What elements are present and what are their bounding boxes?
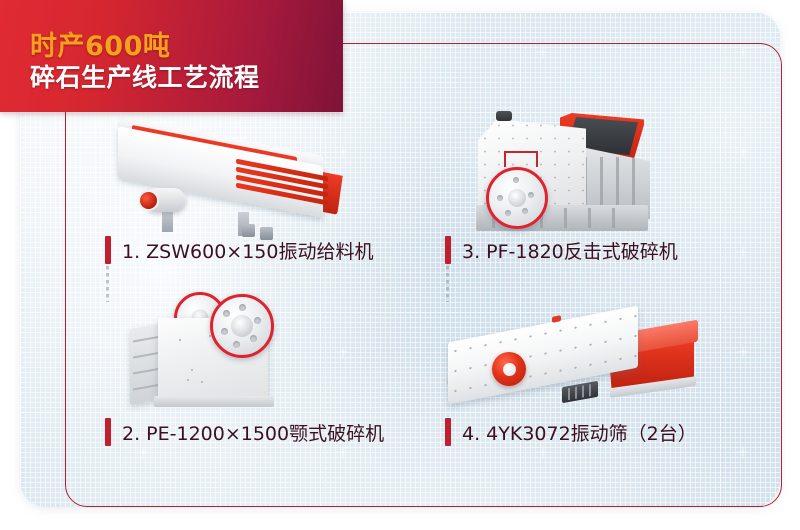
header-banner: 时产600吨 碎石生产线工艺流程: [0, 0, 343, 112]
flywheel-hole: [522, 208, 528, 214]
label-text: 1. ZSW600×150振动给料机: [122, 237, 373, 264]
label-item-3: 3. PF-1820反击式破碎机: [445, 236, 678, 264]
machine-vibrating-feeder: [110, 128, 360, 233]
label-text: 4. 4YK3072振动筛（2台）: [462, 419, 697, 446]
feeder-motor-cap: [138, 190, 159, 211]
poster-root: 时产600吨 碎石生产线工艺流程 1. ZSW600×150振动给料机: [0, 0, 800, 530]
label-accent-bar: [445, 418, 451, 446]
flywheel-hole: [505, 210, 511, 216]
flywheel-hole: [250, 335, 257, 342]
flywheel-hole: [528, 192, 534, 198]
banner-title-line2: 碎石生产线工艺流程: [30, 58, 260, 94]
jaw-base-frame: [154, 396, 274, 407]
label-item-2: 2. PE-1200×1500颚式破碎机: [105, 418, 384, 446]
label-text: 2. PE-1200×1500颚式破碎机: [122, 419, 384, 446]
flywheel-hole: [497, 195, 503, 201]
label-item-1: 1. ZSW600×150振动给料机: [105, 236, 373, 264]
label-accent-bar: [445, 236, 451, 264]
impact-flywheel: [486, 167, 548, 229]
flywheel-hub: [231, 315, 253, 337]
screen-motor: [562, 381, 598, 403]
label-text: 3. PF-1820反击式破碎机: [462, 237, 678, 264]
label-item-4: 4. 4YK3072振动筛（2台）: [445, 418, 697, 446]
jaw-flywheel-front: [210, 294, 274, 358]
flywheel-hub: [508, 189, 526, 207]
flywheel-hole: [233, 341, 240, 348]
label-dotted-line-1: [106, 266, 109, 302]
label-accent-bar: [105, 418, 111, 446]
impact-top-fitting: [496, 111, 512, 121]
flywheel-hole: [254, 317, 261, 324]
machine-jaw-crusher: [128, 286, 328, 411]
screen-exciter-drum: [492, 352, 526, 386]
flywheel-hole: [223, 310, 230, 317]
machine-impact-crusher: [460, 105, 675, 235]
machine-vibrating-screen: [440, 300, 700, 415]
flywheel-hole: [221, 328, 228, 335]
flywheel-hole: [513, 177, 519, 183]
impact-guard-bracket: [504, 151, 538, 167]
label-accent-bar: [105, 236, 111, 264]
label-dotted-line-3: [446, 266, 449, 302]
flywheel-hole: [239, 304, 246, 311]
